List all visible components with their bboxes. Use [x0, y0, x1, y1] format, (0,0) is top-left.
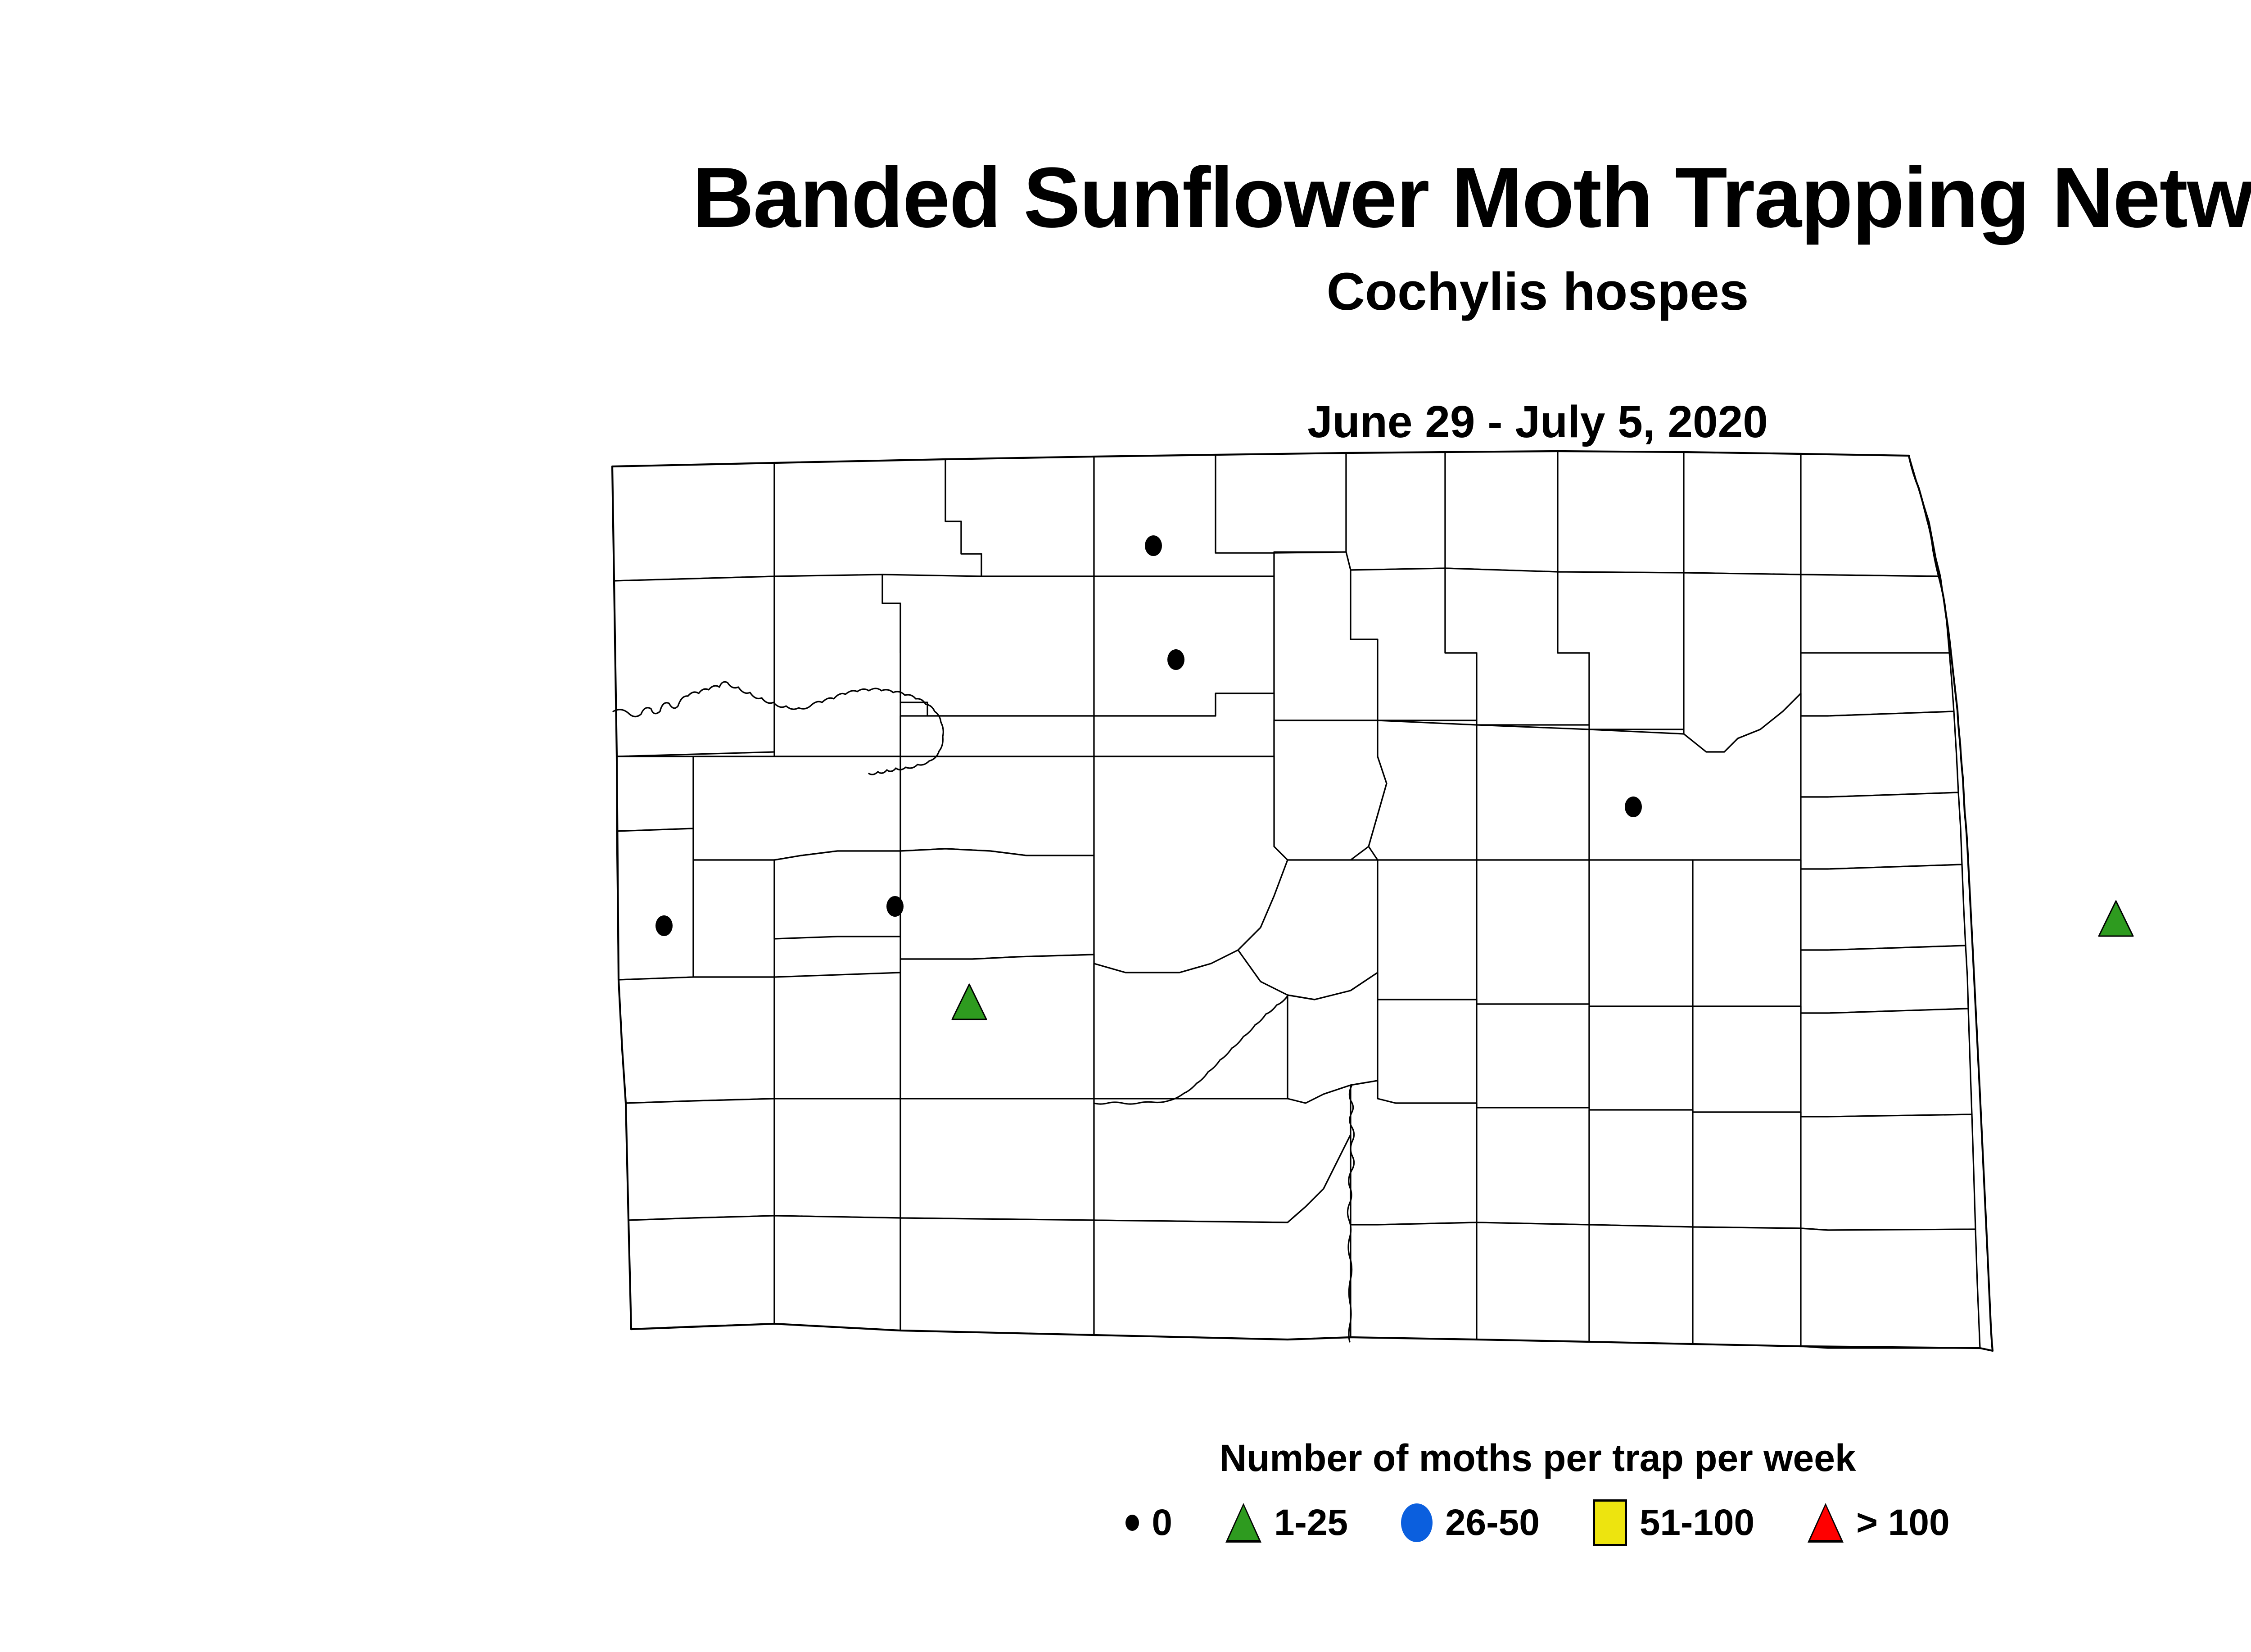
page-title: Banded Sunflower Moth Trapping Network [0, 149, 2251, 247]
trap-marker-dot[interactable] [1625, 797, 1642, 817]
trap-marker-dot[interactable] [655, 915, 673, 936]
legend-item-over-100[interactable]: > 100 [1808, 1502, 1949, 1544]
legend-item-51-100[interactable]: 51-100 [1593, 1499, 1754, 1546]
dot-icon [1125, 1515, 1139, 1531]
trap-marker-dot[interactable] [1145, 535, 1162, 556]
legend-label: > 100 [1856, 1502, 1949, 1544]
legend-label: 1-25 [1274, 1502, 1348, 1544]
species-name: Cochylis hospes [0, 261, 2251, 322]
trap-marker-dot[interactable] [1167, 649, 1184, 670]
figure-canvas: Banded Sunflower Moth Trapping Network C… [0, 0, 2251, 1652]
circle-blue-icon [1401, 1503, 1433, 1542]
date-range: June 29 - July 5, 2020 [0, 396, 2251, 448]
triangle-red-icon [1808, 1503, 1844, 1543]
legend-item-0[interactable]: 0 [1125, 1502, 1172, 1544]
legend: 0 1-25 26-50 51-100 > 100 [0, 1499, 2251, 1546]
north-dakota-county-map [585, 441, 2251, 1405]
legend-item-1-25[interactable]: 1-25 [1225, 1502, 1348, 1544]
map-svg [585, 441, 2251, 1405]
legend-title: Number of moths per trap per week [0, 1436, 2251, 1480]
trap-marker-dot[interactable] [886, 896, 904, 917]
triangle-green-icon [1225, 1503, 1261, 1543]
square-yellow-icon [1593, 1499, 1627, 1546]
trap-marker-triangle[interactable] [2099, 901, 2133, 936]
county-polygons [612, 451, 1980, 1348]
legend-item-26-50[interactable]: 26-50 [1401, 1502, 1540, 1544]
legend-label: 26-50 [1445, 1502, 1540, 1544]
legend-label: 0 [1152, 1502, 1172, 1544]
legend-label: 51-100 [1640, 1502, 1754, 1544]
